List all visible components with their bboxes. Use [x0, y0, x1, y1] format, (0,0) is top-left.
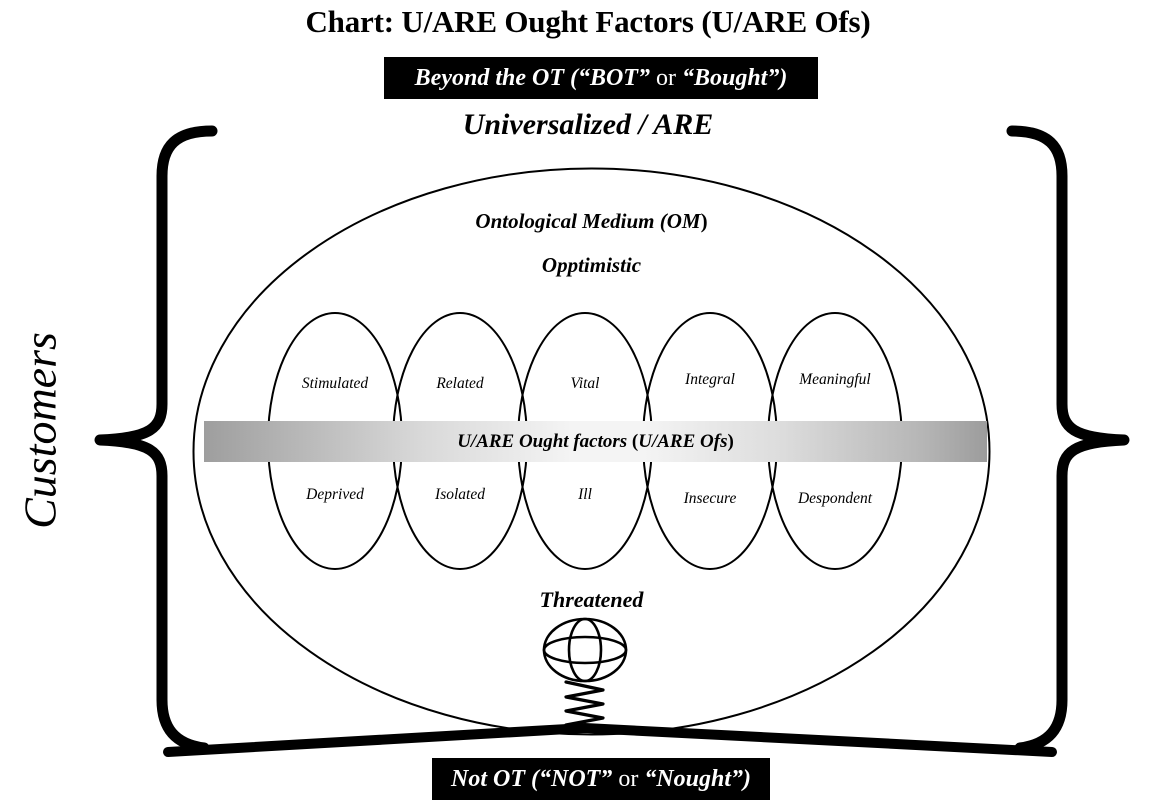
diagram-canvas: Chart: U/ARE Ought Factors (U/ARE Ofs) B…: [0, 0, 1176, 808]
globe-sphere-icon: [544, 619, 626, 681]
banner-bot-part1: Beyond the OT (“BOT”: [415, 65, 656, 91]
banner-bot-connector: or: [656, 65, 676, 91]
om-close: ): [701, 209, 708, 233]
band-label: U/ARE Ought factors: [457, 431, 632, 452]
ontological-medium-label: Ontological Medium (OM): [193, 210, 990, 232]
band-abbrev: U/ARE Ofs: [638, 431, 727, 452]
universalized-are-label: Universalized / ARE: [0, 109, 1176, 141]
page-title: Chart: U/ARE Ought Factors (U/ARE Ofs): [0, 6, 1176, 39]
right-brace: [1012, 131, 1124, 748]
banner-beyond-the-ot: Beyond the OT (“BOT” or “Bought”): [384, 57, 818, 99]
customers-label: Customers: [14, 311, 67, 551]
om-abbrev: OM: [667, 209, 701, 233]
bottom-chevron: [168, 728, 1052, 752]
uare-ought-factors-band-text: U/ARE Ought factors (U/ARE Ofs): [457, 431, 734, 453]
opptimistic-label: Opptimistic: [193, 254, 990, 276]
banner-bot-part2: “Bought”): [676, 65, 787, 91]
banner-not-connector: or: [618, 766, 638, 792]
threatened-label: Threatened: [193, 588, 990, 611]
factor-negative-5: Despondent: [760, 490, 910, 508]
band-paren-close: ): [727, 431, 733, 452]
factor-positive-5: Meaningful: [760, 371, 910, 389]
uare-ought-factors-band: U/ARE Ought factors (U/ARE Ofs): [204, 421, 987, 462]
om-text: Ontological Medium (: [475, 209, 666, 233]
banner-not-ot: Not OT (“NOT” or “Nought”): [432, 758, 770, 800]
banner-not-part2: “Nought”): [638, 766, 751, 792]
banner-not-part1: Not OT (“NOT”: [451, 766, 618, 792]
